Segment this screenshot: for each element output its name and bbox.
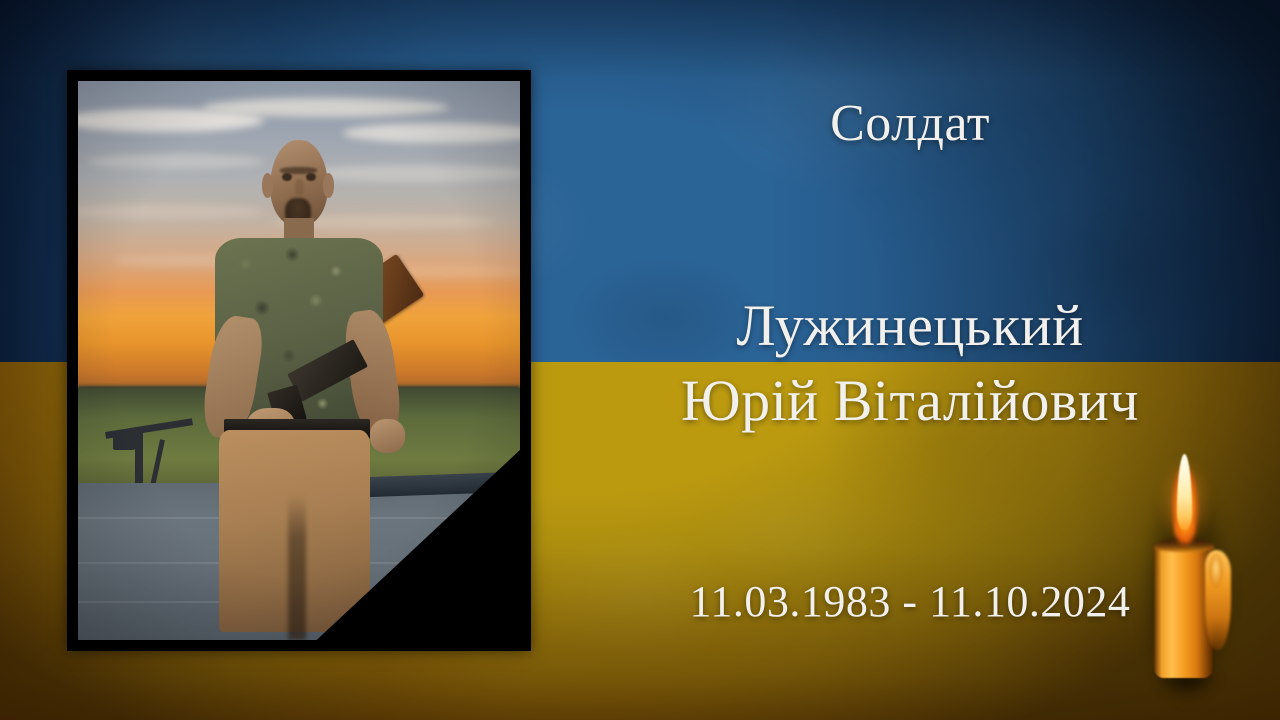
memorial-poster: Солдат Лужинецький Юрій Віталійович 11.0… <box>0 0 1280 720</box>
photo-frame <box>67 70 531 651</box>
soldier-leg-shadow <box>288 495 306 640</box>
candle-wax-drop <box>1209 554 1223 588</box>
cloud <box>87 154 264 170</box>
cloud <box>78 204 264 219</box>
soldier-hand-right <box>370 419 405 453</box>
soldier-nose <box>295 179 305 196</box>
cloud <box>343 123 520 143</box>
soldier-eye-left <box>282 173 292 181</box>
soldier-photo <box>78 81 520 640</box>
cloud <box>202 98 450 117</box>
antenna-box <box>113 433 135 450</box>
memorial-candle-icon <box>1125 432 1265 704</box>
